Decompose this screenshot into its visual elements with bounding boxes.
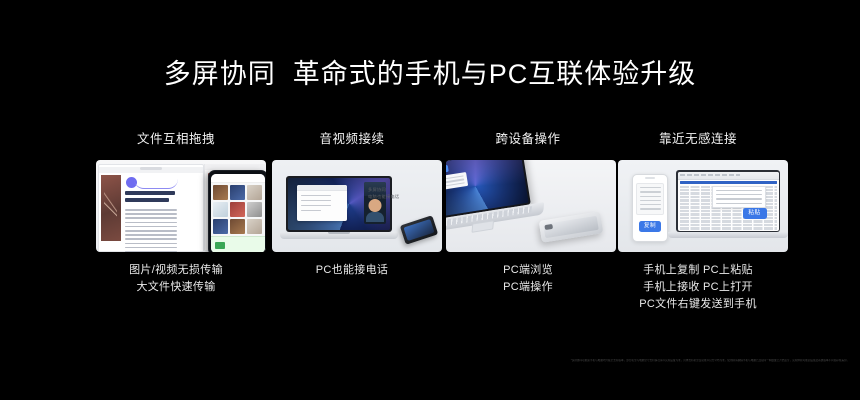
phone-mockup xyxy=(539,211,604,242)
window-text-line xyxy=(301,205,331,206)
phone-share-bar xyxy=(211,236,265,252)
phone-mockup: 复制 xyxy=(632,174,668,242)
app-window xyxy=(297,185,347,221)
thumbnail xyxy=(230,185,245,200)
feature-image-cross-device-control xyxy=(446,160,616,252)
page-title: 多屏协同 革命式的手机与PC互联体验升级 xyxy=(0,52,860,91)
thumbnail xyxy=(247,219,262,234)
titlebar-pill xyxy=(140,167,162,170)
laptop-mockup xyxy=(446,160,545,235)
caption-line: PC也能接电话 xyxy=(264,262,440,279)
phone-appbar xyxy=(211,174,265,183)
thumbnail xyxy=(230,219,245,234)
phone-earpiece xyxy=(645,177,655,179)
feature-column-file-drag-drop: 文件互相拖拽 xyxy=(88,128,264,150)
document-body-text xyxy=(125,209,177,252)
thumbnail xyxy=(247,185,262,200)
overlay-caption-line-1: 多屏协同 xyxy=(368,186,399,193)
caller-face xyxy=(369,199,382,212)
caller-body xyxy=(366,212,384,222)
column-heading: 跨设备操作 xyxy=(440,128,616,150)
caption-line: 手机上复制 PC上粘贴 xyxy=(610,262,786,279)
laptop-mockup: 粘贴 xyxy=(676,170,780,240)
spreadsheet-header-row xyxy=(680,181,777,184)
phone-screen xyxy=(211,174,265,252)
column-captions: 手机上复制 PC上粘贴 手机上接收 PC上打开 PC文件右键发送到手机 xyxy=(610,262,786,313)
caption-line: PC端浏览 xyxy=(440,262,616,279)
decorative-swoosh xyxy=(134,179,178,189)
document-heading-line-1 xyxy=(125,191,175,195)
laptop-base xyxy=(668,232,788,238)
laptop-mockup xyxy=(98,164,204,252)
overlay-caption-line-2: 电脑也能接电话 xyxy=(368,193,399,200)
phone-mockup xyxy=(400,215,439,245)
spreadsheet-app: 粘贴 xyxy=(678,172,779,231)
spreadsheet-toolbar xyxy=(678,172,779,180)
column-captions: PC也能接电话 xyxy=(264,262,440,279)
presentation-slide: 多屏协同 革命式的手机与PC互联体验升级 文件互相拖拽 xyxy=(0,0,860,400)
thumbnail xyxy=(213,219,228,234)
laptop-base xyxy=(280,232,398,239)
window-titlebar xyxy=(297,185,347,191)
feature-columns: 文件互相拖拽 xyxy=(0,128,860,348)
feature-image-av-handoff: 多屏协同 电脑也能接电话 xyxy=(272,160,442,252)
thumbnail xyxy=(213,202,228,217)
feature-image-file-drag-drop xyxy=(96,160,266,252)
document-photo xyxy=(101,175,121,241)
thumbnail xyxy=(247,202,262,217)
phone-text-panel xyxy=(636,183,664,215)
window-text-line xyxy=(301,200,331,201)
window-text-line xyxy=(301,195,331,196)
pasted-content-popup xyxy=(712,186,766,208)
feature-column-av-handoff: 音视频接续 xyxy=(264,128,440,150)
caption-line: 图片/视频无损传输 xyxy=(88,262,264,279)
laptop-mockup xyxy=(286,176,392,232)
phone-copy-button[interactable]: 复制 xyxy=(639,221,661,232)
feature-column-cross-device-control: 跨设备操作 xyxy=(440,128,616,150)
caption-line: 大文件快速传输 xyxy=(88,279,264,296)
column-captions: PC端浏览 PC端操作 xyxy=(440,262,616,296)
window-text-line xyxy=(301,210,321,211)
notification-window xyxy=(446,172,468,192)
caption-line: PC端操作 xyxy=(440,279,616,296)
column-heading: 文件互相拖拽 xyxy=(88,128,264,150)
legal-disclaimer: *多屏协同功能需手机与电脑均升级至支持版本，部分机型与电脑型号支持情况请以实际设… xyxy=(560,359,860,375)
phone-mockup xyxy=(208,170,266,252)
overlay-caption: 多屏协同 电脑也能接电话 xyxy=(368,186,399,200)
caption-line: PC文件右键发送到手机 xyxy=(610,296,786,313)
column-heading: 靠近无感连接 xyxy=(610,128,786,150)
document-heading-line-2 xyxy=(125,198,169,202)
laptop-trackpad xyxy=(471,220,494,233)
feature-image-proximity-connect: 复制 粘贴 xyxy=(618,160,788,252)
pc-paste-button[interactable]: 粘贴 xyxy=(743,208,767,219)
document-editor xyxy=(99,173,203,251)
app-icon xyxy=(446,165,449,173)
phone-camera-module xyxy=(544,224,553,230)
column-heading: 音视频接续 xyxy=(264,128,440,150)
caption-line: 手机上接收 PC上打开 xyxy=(610,279,786,296)
feature-column-proximity-connect: 靠近无感连接 复制 xyxy=(610,128,786,150)
phone-thumbnail-grid xyxy=(211,183,265,236)
thumbnail xyxy=(230,202,245,217)
thumbnail xyxy=(213,185,228,200)
laptop-screen: 粘贴 xyxy=(676,170,780,232)
column-captions: 图片/视频无损传输 大文件快速传输 xyxy=(88,262,264,296)
